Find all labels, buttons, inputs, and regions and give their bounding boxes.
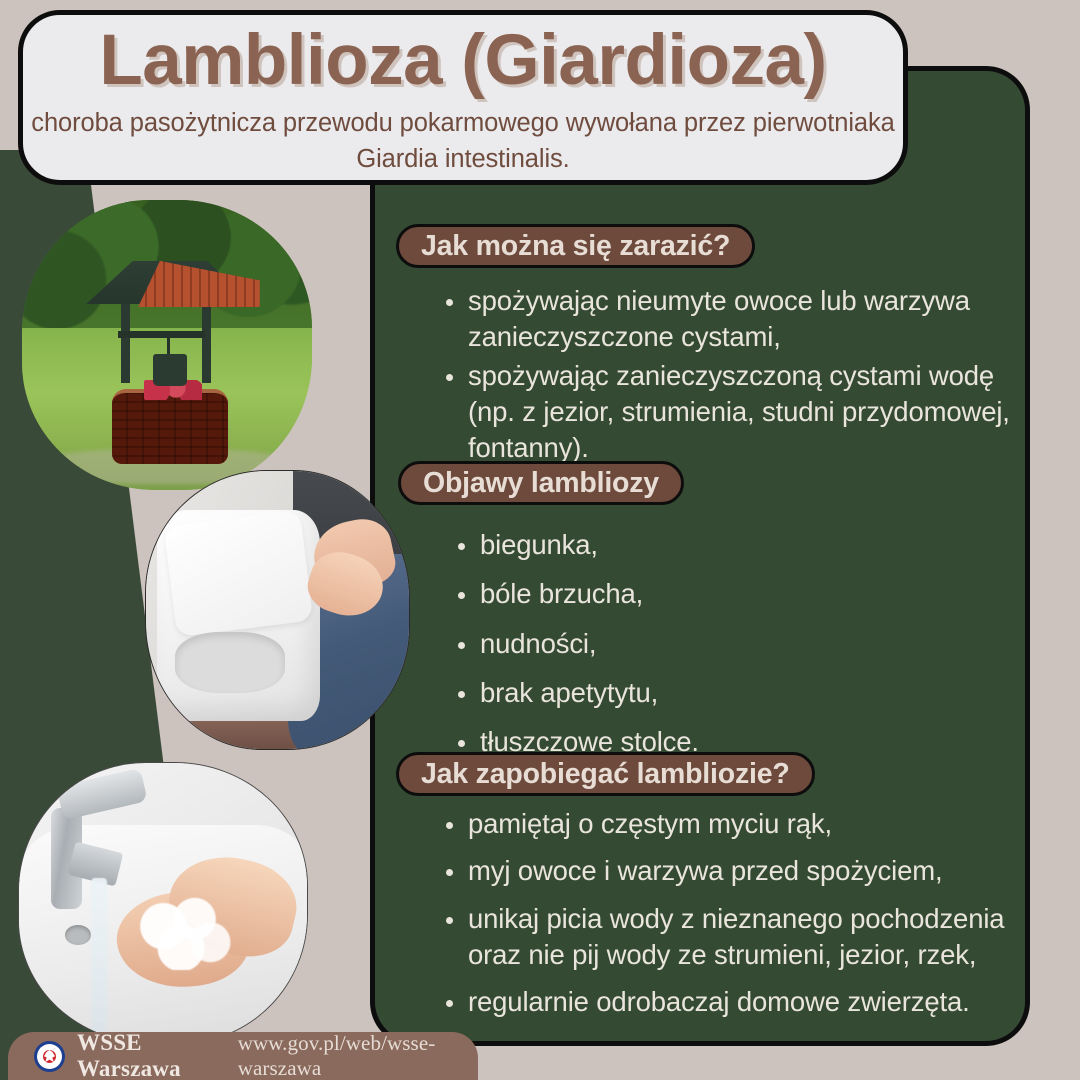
list-prevention: pamiętaj o częstym myciu rąk, myj owoce … [440,806,1020,1031]
list-item: spożywając zanieczyszczoną cystami wodę … [440,358,1020,467]
list-item: bóle brzucha, [452,576,1012,612]
list-item: brak apetytytu, [452,675,1012,711]
section-heading-symptoms: Objawy lambliozy [398,461,684,505]
well-scene [22,200,312,490]
list-transmission: spożywając nieumyte owoce lub warzywa za… [440,283,1020,468]
list-symptoms: biegunka, bóle brzucha, nudności, brak a… [452,527,1012,773]
page-subtitle: choroba pasożytnicza przewodu pokarmoweg… [23,105,903,177]
well-photo [22,200,312,490]
footer-bar: WSSE Warszawa www.gov.pl/web/wsse-warsza… [8,1032,478,1080]
polish-state-emblem-icon [34,1041,65,1072]
list-item: unikaj picia wody z nieznanego pochodzen… [440,901,1020,974]
toilet-scene [146,471,409,749]
toilet-photo [145,470,410,750]
list-item: biegunka, [452,527,1012,563]
infographic-poster: Lamblioza (Giardioza) choroba pasożytnic… [0,0,1080,1080]
list-item: regularnie odrobaczaj domowe zwierzęta. [440,984,1020,1020]
section-heading-prevention: Jak zapobiegać lambliozie? [396,752,815,796]
footer-organization: WSSE Warszawa [77,1030,226,1080]
list-item: pamiętaj o częstym myciu rąk, [440,806,1020,842]
footer-url[interactable]: www.gov.pl/web/wsse-warszawa [238,1031,478,1080]
list-item: nudności, [452,626,1012,662]
handwashing-scene [19,763,307,1043]
title-card: Lamblioza (Giardioza) choroba pasożytnic… [18,10,908,185]
list-item: myj owoce i warzywa przed spożyciem, [440,853,1020,889]
handwashing-photo [18,762,308,1044]
page-title: Lamblioza (Giardioza) [99,21,826,101]
list-item: spożywając nieumyte owoce lub warzywa za… [440,283,1020,356]
section-heading-transmission: Jak można się zarazić? [396,224,755,268]
